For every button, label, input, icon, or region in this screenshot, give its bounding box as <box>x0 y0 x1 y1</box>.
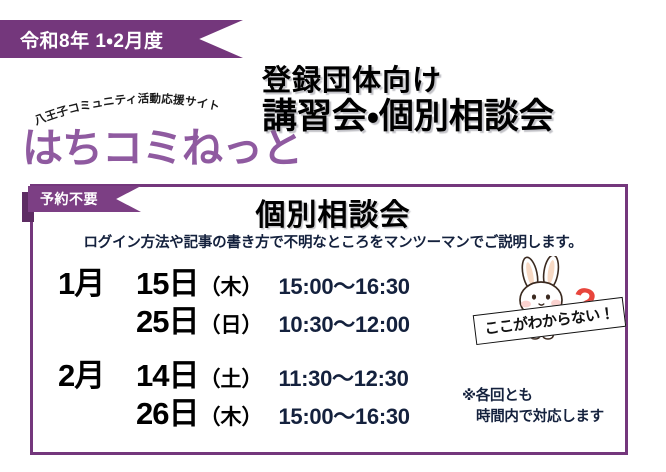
headline: 登録団体向け 講習会・個別相談会 <box>262 66 662 138</box>
schedule-weekday: （日） <box>199 309 262 339</box>
schedule-group-february: 2月 14日 （土） 11:30〜12:30 26日 （木） 15:00〜16:… <box>58 350 478 426</box>
schedule-month: 1月 <box>58 258 136 303</box>
flyer-canvas: 令和8年 1・2月度 八王子コミュニティ活動応援サイト はちコミねっと 登録団体… <box>0 0 666 472</box>
schedule-list: 1月 15日 （木） 15:00〜16:30 25日 （日） 10:30〜12:… <box>58 258 478 442</box>
section-title: 個別相談会 <box>0 190 666 234</box>
site-logo: 八王子コミュニティ活動応援サイト はちコミねっと <box>22 92 262 164</box>
footnote-line-1: ※各回とも <box>462 386 604 407</box>
section-description: ログイン方法や記事の書き方で不明なところをマンツーマンでご説明します。 <box>0 231 666 252</box>
schedule-time: 10:30〜12:00 <box>278 307 409 339</box>
footnote-line-2: 時間内で対応します <box>462 407 604 428</box>
schedule-day: 25日 <box>136 296 198 341</box>
schedule-month: 2月 <box>58 350 136 395</box>
schedule-group-january: 1月 15日 （木） 15:00〜16:30 25日 （日） 10:30〜12:… <box>58 258 478 334</box>
schedule-time: 15:00〜16:30 <box>278 269 409 301</box>
schedule-time: 11:30〜12:30 <box>278 361 408 393</box>
logo-name: はちコミねっと <box>22 114 302 174</box>
period-ribbon-label: 令和8年 1・2月度 <box>20 26 163 53</box>
footnote: ※各回とも 時間内で対応します <box>462 386 604 427</box>
schedule-row: 2月 14日 （土） 11:30〜12:30 <box>58 350 478 388</box>
schedule-weekday: （木） <box>199 401 262 431</box>
headline-subtitle: 登録団体向け <box>262 66 662 96</box>
headline-title: 講習会・個別相談会 <box>262 96 662 137</box>
schedule-time: 15:00〜16:30 <box>278 399 409 431</box>
schedule-day: 26日 <box>136 388 198 433</box>
schedule-row: 1月 15日 （木） 15:00〜16:30 <box>58 258 478 296</box>
period-ribbon: 令和8年 1・2月度 <box>0 20 243 58</box>
schedule-weekday: （土） <box>199 363 262 393</box>
schedule-weekday: （木） <box>199 271 262 301</box>
